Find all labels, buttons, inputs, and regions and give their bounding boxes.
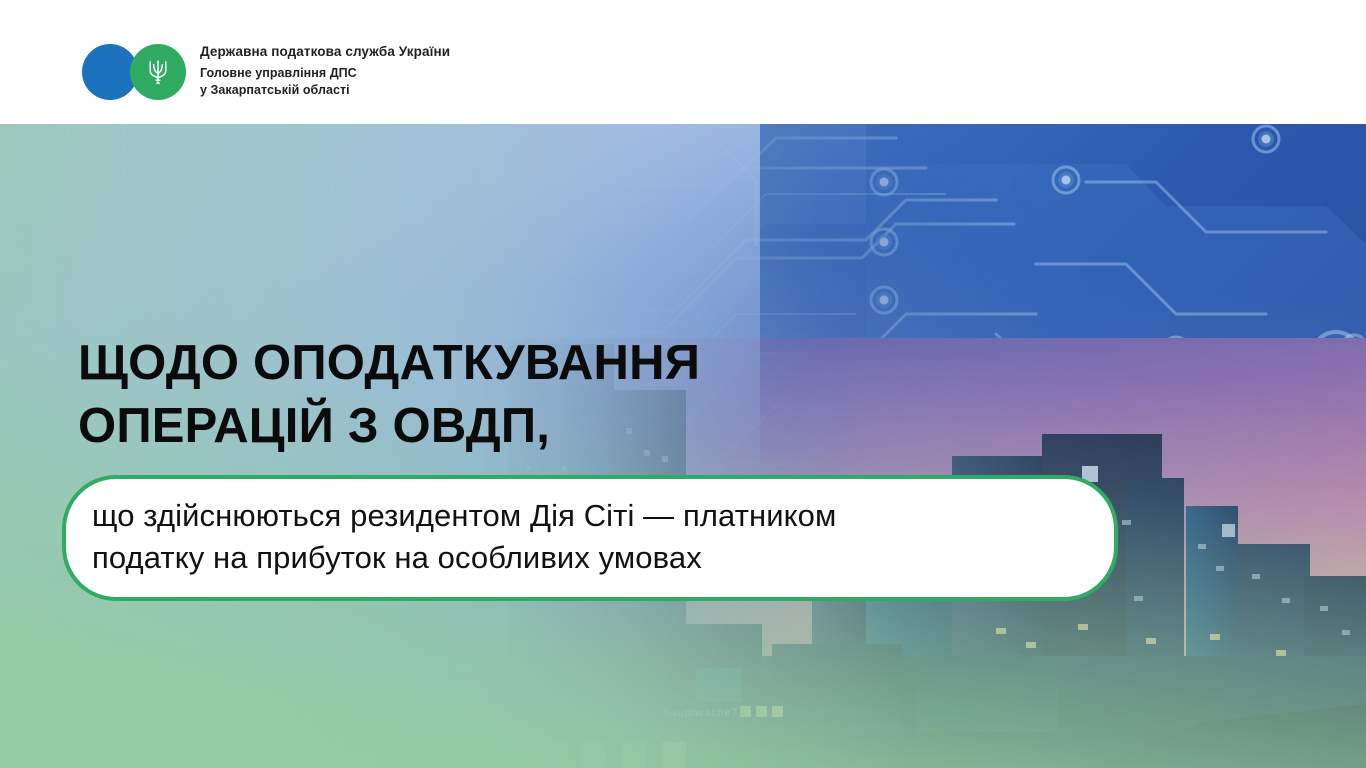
ukraine-trident-icon — [145, 57, 171, 87]
subtitle-text: що здійснюються резидентом Дія Сіті — пл… — [92, 495, 836, 579]
headline-line-1: ЩОДО ОПОДАТКУВАННЯ — [78, 332, 898, 395]
headline-line-2: ОПЕРАЦІЙ З ОВДП, — [78, 395, 898, 458]
logo-marks — [82, 44, 186, 100]
hero-background: Helaba — [0, 124, 1366, 768]
logo-text-block: Державна податкова служба України Головн… — [200, 45, 450, 99]
subtitle-callout-box: що здійснюються резидентом Дія Сіті — пл… — [62, 475, 1118, 601]
presentation-slide: Helaba — [0, 0, 1366, 768]
green-circle-icon — [130, 44, 186, 100]
subtitle-line-2: податку на прибуток на особливих умовах — [92, 537, 836, 579]
org-unit-line-1: Головне управління ДПС — [200, 66, 357, 80]
org-unit-line-2: у Закарпатській області — [200, 83, 350, 97]
org-unit: Головне управління ДПС у Закарпатській о… — [200, 65, 450, 100]
header-band: Державна податкова служба України Головн… — [0, 0, 1366, 124]
organization-logo-lockup: Державна податкова служба України Головн… — [82, 44, 450, 100]
org-title: Державна податкова служба України — [200, 45, 450, 59]
hero-content: ЩОДО ОПОДАТКУВАННЯ ОПЕРАЦІЙ З ОВДП, що з… — [0, 124, 1366, 768]
page-title: ЩОДО ОПОДАТКУВАННЯ ОПЕРАЦІЙ З ОВДП, — [78, 332, 898, 458]
subtitle-line-1: що здійснюються резидентом Дія Сіті — пл… — [92, 495, 836, 537]
